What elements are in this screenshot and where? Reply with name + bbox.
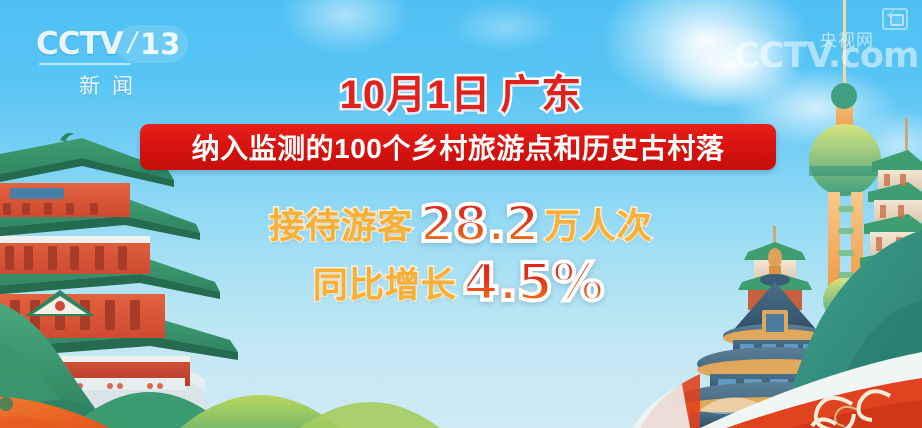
headline-region: 广东 <box>500 62 582 120</box>
stat-row: 同比增长 4.5% <box>0 250 922 308</box>
red-banner: 纳入监测的100个乡村旅游点和历史古村落 <box>140 124 776 170</box>
banner-text: 纳入监测的100个乡村旅游点和历史古村落 <box>192 127 725 167</box>
headline: 10月1日 广东 <box>0 62 922 120</box>
broadcast-graphic: CCTV / 13 新闻 CCTV.com 央视网 10月1日 广东 纳入监测的… <box>0 0 922 428</box>
stat-label: 接待游客 <box>269 198 413 249</box>
stat-value: 4.5% <box>463 253 603 313</box>
headline-date: 10月1日 <box>340 62 492 120</box>
stat-row: 接待游客 28.2 万人次 <box>0 192 922 250</box>
statistics-block: 接待游客 28.2 万人次 同比增长 4.5% <box>0 192 922 308</box>
stat-value: 28.2 <box>419 195 538 253</box>
stat-label: 同比增长 <box>313 257 457 308</box>
logo-cctv-text: CCTV <box>36 26 123 62</box>
picture-in-picture-icon[interactable] <box>882 8 908 30</box>
stat-unit: 万人次 <box>545 198 653 249</box>
